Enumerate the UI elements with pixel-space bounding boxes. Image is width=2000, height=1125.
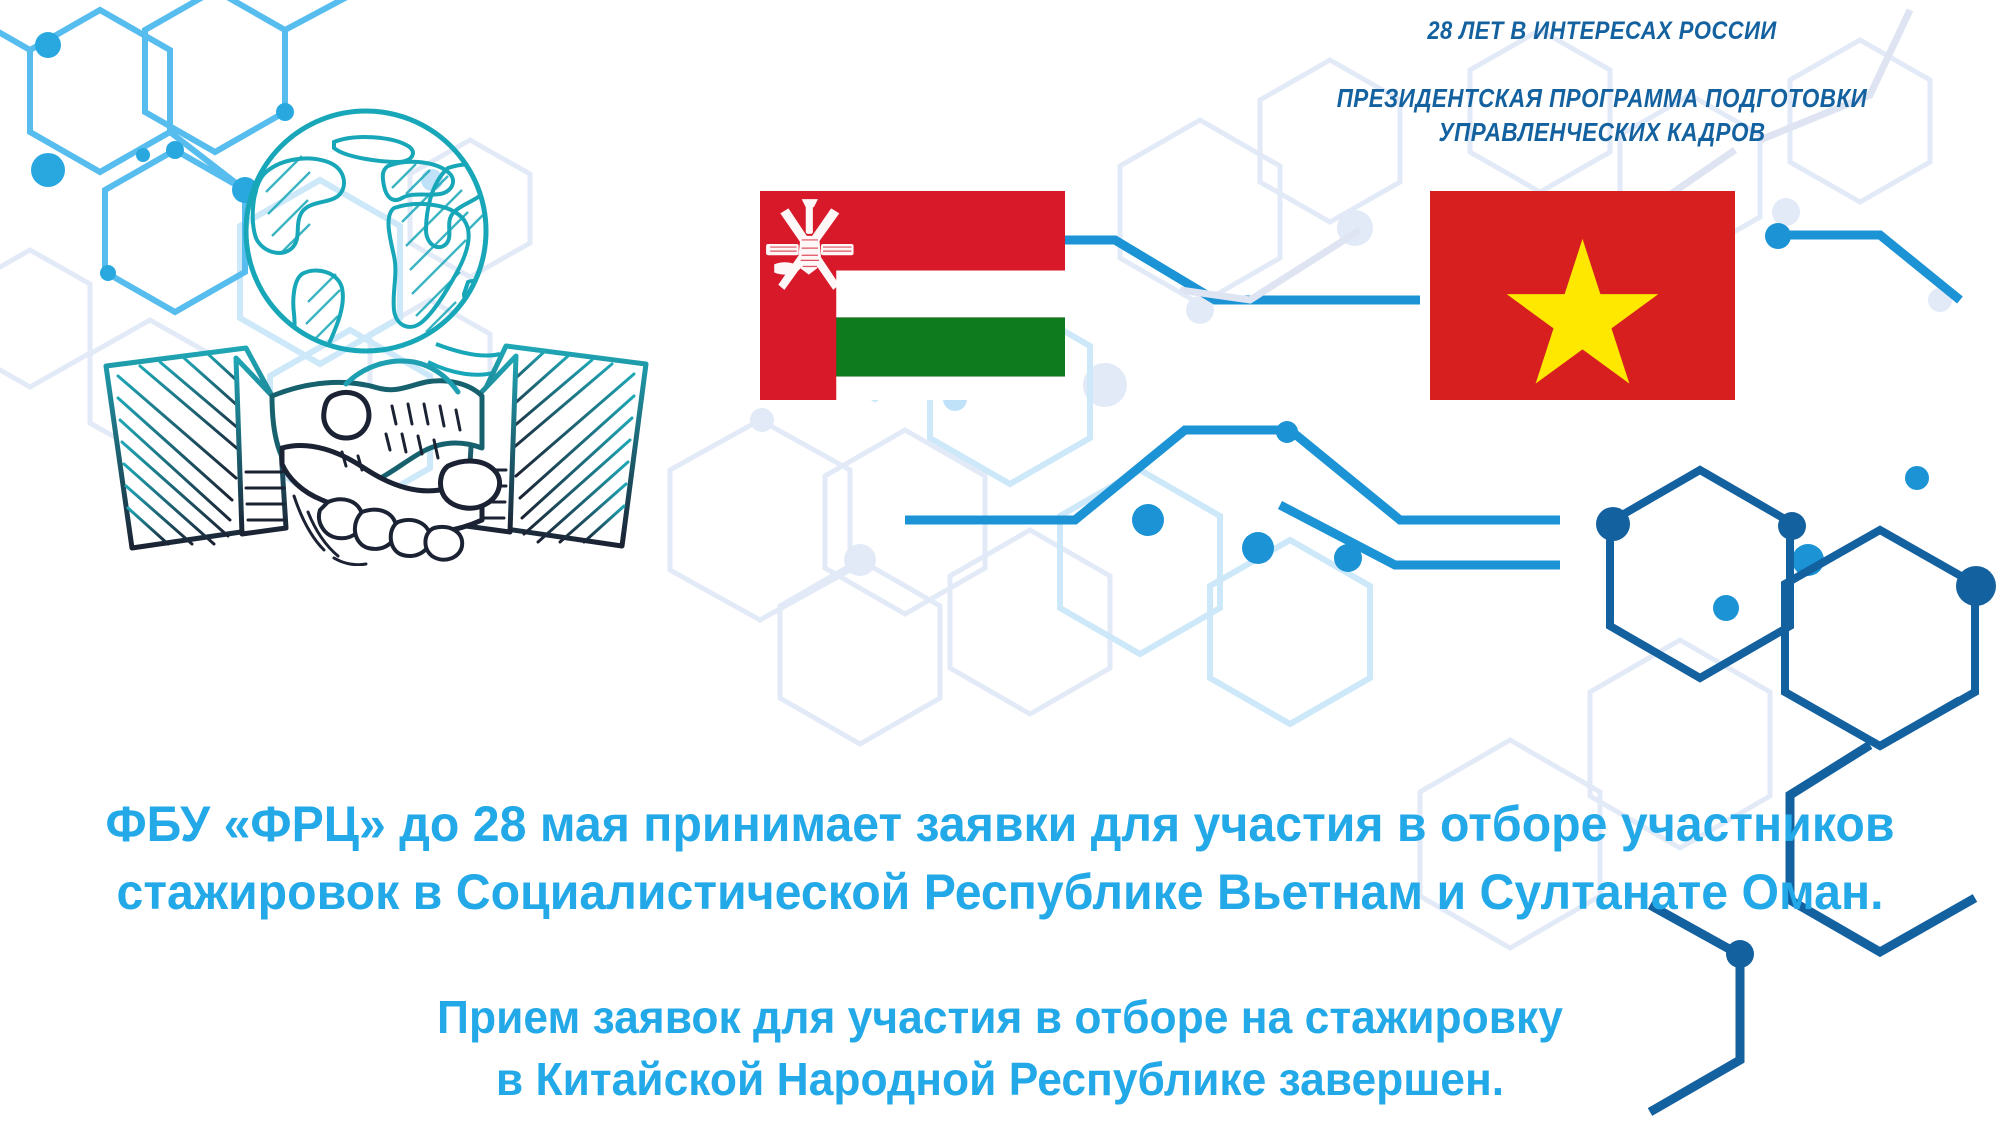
body-copy: ФБУ «ФРЦ» до 28 мая принимает заявки для…	[0, 790, 2000, 1110]
header-program-line-2: УПРАВЛЕНЧЕСКИХ КАДРОВ	[1268, 116, 1937, 150]
flag-oman	[760, 191, 1065, 400]
flag-vietnam	[1430, 191, 1735, 400]
header-text-block: 28 ЛЕТ В ИНТЕРЕСАХ РОССИИ ПРЕЗИДЕНТСКАЯ …	[1222, 16, 1982, 150]
globe-icon	[246, 111, 520, 375]
header-program-line-1: ПРЕЗИДЕНТСКАЯ ПРОГРАММА ПОДГОТОВКИ	[1268, 82, 1937, 116]
handshake-icon	[106, 346, 646, 565]
paragraph2-line2: в Китайской Народной Республике завершен…	[35, 1048, 1965, 1110]
paragraph1-line1: ФБУ «ФРЦ» до 28 мая принимает заявки для…	[35, 790, 1965, 858]
handshake-globe-illustration	[96, 96, 656, 566]
paragraph2-line1: Прием заявок для участия в отборе на ста…	[35, 986, 1965, 1048]
paragraph-internships: ФБУ «ФРЦ» до 28 мая принимает заявки для…	[0, 790, 2000, 926]
paragraph1-line2: стажировок в Социалистической Республике…	[35, 858, 1965, 926]
paragraph-china-closed: Прием заявок для участия в отборе на ста…	[0, 986, 2000, 1110]
header-tagline: 28 ЛЕТ В ИНТЕРЕСАХ РОССИИ	[1268, 16, 1937, 46]
poster-root: 28 ЛЕТ В ИНТЕРЕСАХ РОССИИ ПРЕЗИДЕНТСКАЯ …	[0, 0, 2000, 1125]
